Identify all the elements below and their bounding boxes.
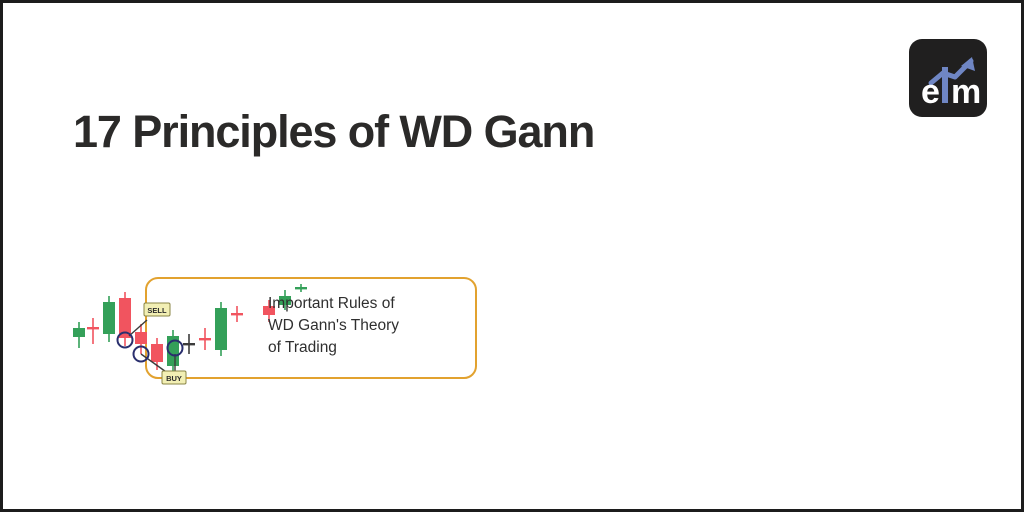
buy-tag[interactable]: BUY [162, 371, 186, 384]
candle [119, 292, 131, 346]
elm-logo[interactable]: e m [909, 39, 987, 117]
logo-letter-e: e [921, 73, 940, 111]
logo-letter-m: m [951, 73, 981, 111]
candle [73, 322, 85, 348]
elm-logo-graphic: e m [909, 39, 987, 117]
candle [87, 318, 99, 344]
candle [295, 284, 307, 292]
callout-line-3: of Trading [268, 337, 458, 359]
candle [183, 334, 195, 354]
candle [199, 328, 211, 350]
callout-text: Important Rules of WD Gann's Theory of T… [268, 293, 458, 359]
callout-line-1: Important Rules of [268, 293, 458, 315]
candle [103, 296, 115, 342]
sell-tag[interactable]: SELL [144, 303, 170, 316]
sell-tag-label: SELL [147, 306, 167, 315]
candle [215, 302, 227, 356]
candle [231, 306, 243, 322]
buy-tag-label: BUY [166, 374, 182, 383]
page-title: 17 Principles of WD Gann [73, 106, 594, 158]
logo-letter-l-bar [942, 67, 948, 103]
callout-line-2: WD Gann's Theory [268, 315, 458, 337]
poster-canvas: e m 17 Principles of WD Gann [0, 0, 1024, 512]
candlestick-figure: SELL BUY Important Rules of WD Gann's Th… [63, 258, 503, 398]
